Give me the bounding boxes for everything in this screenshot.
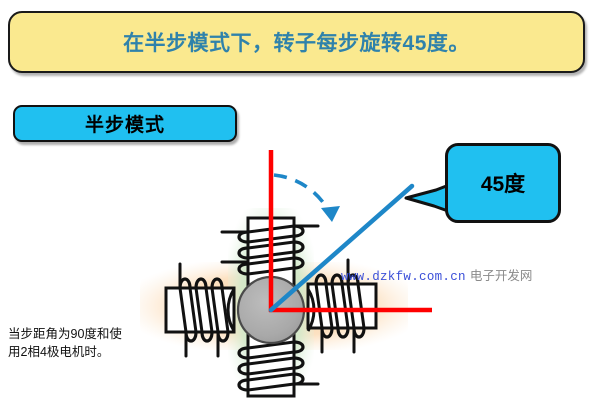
mode-chip-label: 半步模式 <box>85 110 165 137</box>
watermark-site-name: 电子开发网 <box>470 269 533 283</box>
caption-line-2: 用2相4极电机时。 <box>8 343 158 361</box>
title-banner: 在半步模式下，转子每步旋转45度。 <box>8 11 585 73</box>
angle-arc-arrowhead <box>321 206 340 222</box>
caption-block: 当步距角为90度和使 用2相4极电机时。 <box>8 325 158 361</box>
mode-chip[interactable]: 半步模式 <box>13 105 237 142</box>
caption-line-1: 当步距角为90度和使 <box>8 325 158 343</box>
diagram-canvas: 45度 在半步模式下，转子每步旋转45度。 半步模式 当步距角为90度和使 用2… <box>0 0 600 418</box>
angle-callout-bubble[interactable]: 45度 <box>445 143 561 223</box>
watermark: www.dzkfw.com.cn电子开发网 <box>341 270 532 284</box>
watermark-url: www.dzkfw.com.cn <box>341 270 466 284</box>
title-text: 在半步模式下，转子每步旋转45度。 <box>123 27 470 57</box>
angle-callout-label: 45度 <box>481 168 525 198</box>
